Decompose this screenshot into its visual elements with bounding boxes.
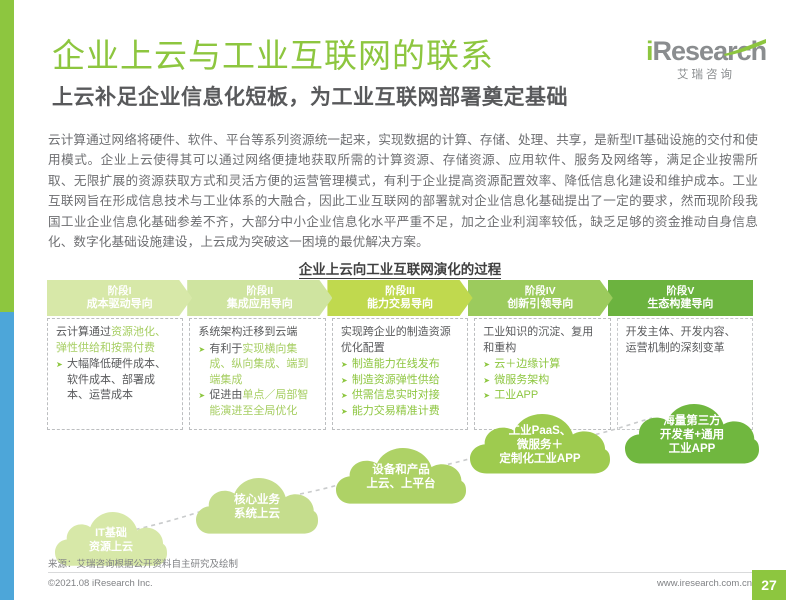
stage-content-box-2: 系统架构迁移到云端有利于实现横向集成、纵向集成、端到端集成促进由单点／局部智能演…	[189, 318, 325, 430]
figure-title: 企业上云向工业互联网演化的过程	[0, 258, 800, 278]
cloud-label-line: IT基础	[89, 526, 133, 540]
box-bullet-item: 大幅降低硬件成本、软件成本、部署成本、运营成本	[56, 357, 175, 404]
stage-subtitle: 生态构建导向	[647, 298, 713, 312]
copyright-text: ©2021.08 iResearch Inc.	[48, 578, 153, 589]
cloud-label: 工业PaaS、微服务＋定制化工业APP	[495, 424, 584, 466]
box-bullet-item: 供需信息实时对接	[341, 388, 460, 404]
cloud-label-line: 微服务＋	[499, 438, 580, 452]
cloud-label-line: 设备和产品	[367, 463, 436, 477]
stage-name: 阶段III	[385, 285, 415, 299]
stage-content-box-3: 实现跨企业的制造资源优化配置制造能力在线发布制造资源弹性供给供需信息实时对接能力…	[332, 318, 468, 430]
box-lead-plain: 实现跨企业的制造资源优化配置	[341, 326, 451, 354]
slide-page: iResearch 艾瑞咨询 企业上云与工业互联网的联系 上云补足企业信息化短板…	[0, 0, 800, 600]
logo-chinese-name: 艾瑞咨询	[646, 66, 766, 82]
stage-name: 阶段IV	[525, 285, 556, 299]
website-link[interactable]: www.iresearch.com.cn	[657, 578, 752, 589]
airplane-icon	[560, 400, 582, 427]
cloud-label: 设备和产品上云、上平台	[363, 463, 440, 491]
cloud-label-line: 核心业务	[234, 493, 280, 507]
swoosh-icon	[722, 38, 768, 56]
box-bullet-item: 制造资源弹性供给	[341, 373, 460, 389]
stage-header-1[interactable]: 阶段I成本驱动导向	[47, 280, 192, 316]
box-bullet-item: 能力交易精准计费	[341, 404, 460, 420]
box-bullet-item: 促进由单点／局部智能演进至全局优化	[198, 388, 317, 419]
cloud-label-line: 工业APP	[660, 442, 724, 456]
box-lead-plain: 系统架构迁移到云端	[198, 326, 297, 338]
box-bullet-list: 云＋边缘计算微服务架构工业APP	[483, 357, 602, 404]
iresearch-logo: iResearch 艾瑞咨询	[646, 34, 766, 90]
box-lead-plain: 开发主体、开发内容、运营机制的深刻变革	[626, 326, 736, 354]
cloud-label: IT基础资源上云	[85, 526, 137, 554]
cloud-label-line: 定制化工业APP	[499, 452, 580, 466]
stage-name: 阶段I	[108, 285, 132, 299]
page-subtitle: 上云补足企业信息化短板，为工业互联网部署奠定基础	[52, 84, 568, 112]
footer-divider	[48, 572, 758, 573]
cloud-label: 海量第三方开发者+通用工业APP	[656, 414, 728, 456]
left-accent-bar	[0, 0, 14, 600]
stage-header-row: 阶段I成本驱动导向阶段II集成应用导向阶段III能力交易导向阶段IV创新引领导向…	[47, 280, 753, 316]
stage-subtitle: 成本驱动导向	[87, 298, 153, 312]
box-lead-text: 系统架构迁移到云端	[198, 325, 317, 341]
bullet-plain-part: 促进由	[209, 389, 242, 401]
page-number-badge: 27	[752, 570, 786, 600]
stage-header-4[interactable]: 阶段IV创新引领导向	[468, 280, 613, 316]
airplane-icon	[282, 462, 304, 489]
box-bullet-item: 微服务架构	[483, 373, 602, 389]
stage-name: 阶段II	[246, 285, 273, 299]
box-bullet-item: 云＋边缘计算	[483, 357, 602, 373]
stage-header-5[interactable]: 阶段V生态构建导向	[608, 280, 753, 316]
box-lead-text: 实现跨企业的制造资源优化配置	[341, 325, 460, 356]
stage-subtitle: 集成应用导向	[227, 298, 293, 312]
logo-mark: iResearch	[646, 34, 766, 68]
page-title: 企业上云与工业互联网的联系	[52, 36, 494, 76]
box-lead-text: 开发主体、开发内容、运营机制的深刻变革	[626, 325, 745, 356]
stage-header-2[interactable]: 阶段II集成应用导向	[187, 280, 332, 316]
cloud-label-line: 海量第三方	[660, 414, 724, 428]
stage-subtitle: 能力交易导向	[367, 298, 433, 312]
stage-subtitle: 创新引领导向	[507, 298, 573, 312]
box-lead-plain: 工业知识的沉淀、复用和重构	[483, 326, 593, 354]
box-bullet-list: 大幅降低硬件成本、软件成本、部署成本、运营成本	[56, 357, 175, 404]
cloud-label: 核心业务系统上云	[230, 493, 284, 521]
box-lead-text: 工业知识的沉淀、复用和重构	[483, 325, 602, 356]
box-bullet-item: 有利于实现横向集成、纵向集成、端到端集成	[198, 342, 317, 389]
box-bullet-list: 制造能力在线发布制造资源弹性供给供需信息实时对接能力交易精准计费	[341, 357, 460, 419]
stage-content-box-1: 云计算通过资源池化、弹性供给和按需付费大幅降低硬件成本、软件成本、部署成本、运营…	[47, 318, 183, 430]
box-bullet-item: 制造能力在线发布	[341, 357, 460, 373]
box-bullet-item: 工业APP	[483, 388, 602, 404]
cloud-label-line: 系统上云	[234, 507, 280, 521]
body-paragraph: 云计算通过网络将硬件、软件、平台等系列资源统一起来，实现数据的计算、存储、处理、…	[48, 130, 758, 252]
cloud-callout-4[interactable]: 工业PaaS、微服务＋定制化工业APP	[470, 414, 610, 476]
cloud-callout-5[interactable]: 海量第三方开发者+通用工业APP	[625, 404, 759, 466]
source-note: 来源：艾瑞咨询根据公开资料自主研究及绘制	[48, 556, 238, 570]
cloud-label-line: 开发者+通用	[660, 428, 724, 442]
bullet-plain-part: 有利于	[209, 343, 242, 355]
figure-title-text: 企业上云向工业互联网演化的过程	[299, 262, 502, 279]
airplane-icon	[420, 432, 442, 459]
stage-name: 阶段V	[666, 285, 694, 299]
cloud-label-line: 资源上云	[89, 540, 133, 554]
box-bullet-list: 有利于实现横向集成、纵向集成、端到端集成促进由单点／局部智能演进至全局优化	[198, 342, 317, 420]
cloud-callout-3[interactable]: 设备和产品上云、上平台	[336, 448, 466, 506]
cloud-label-line: 上云、上平台	[367, 477, 436, 491]
box-lead-plain: 云计算通过	[56, 326, 111, 338]
box-lead-text: 云计算通过资源池化、弹性供给和按需付费	[56, 325, 175, 356]
stage-header-3[interactable]: 阶段III能力交易导向	[327, 280, 472, 316]
airplane-icon	[140, 495, 162, 522]
